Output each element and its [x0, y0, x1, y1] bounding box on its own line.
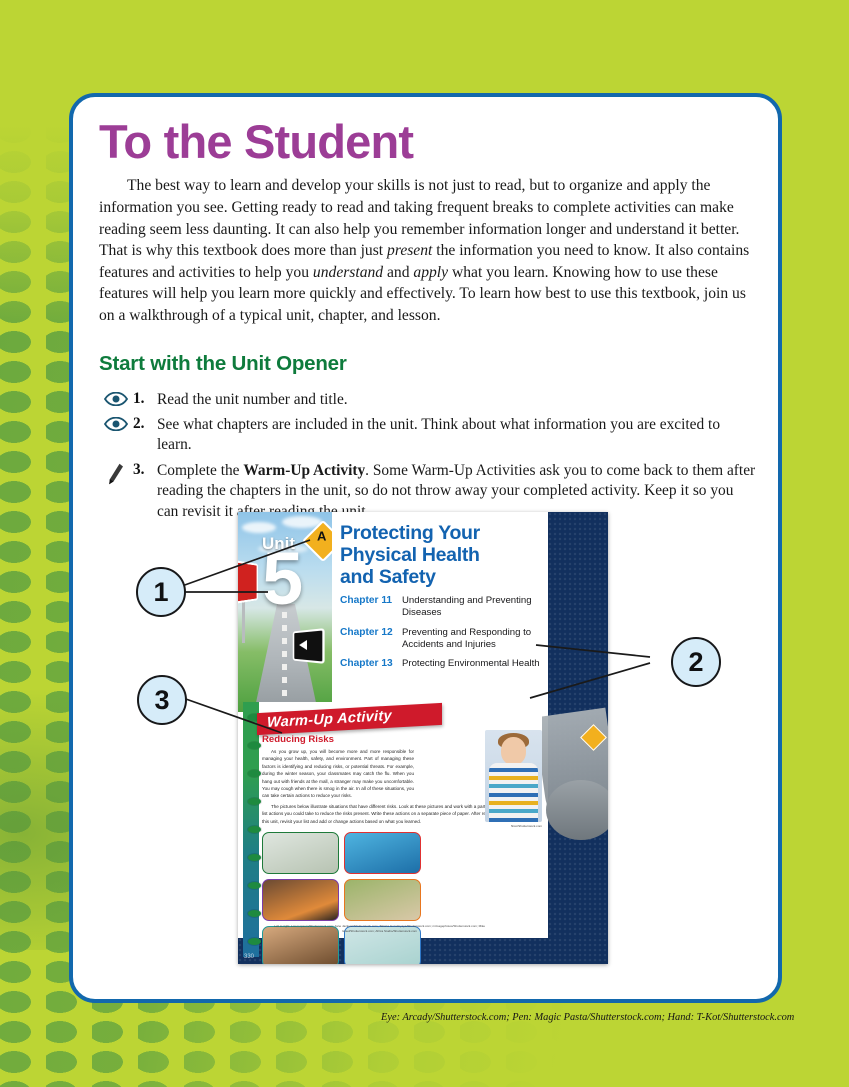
activity-body: Reducing Risks As you grow up, you will … [262, 734, 497, 825]
photo-cell [262, 879, 339, 921]
list-item: 2. See what chapters are included in the… [99, 415, 756, 456]
chapter-row: Chapter 11 Understanding and Preventing … [340, 595, 548, 620]
chapter-number: Chapter 11 [340, 595, 402, 620]
unit-title-line-2: Physical Health [340, 544, 548, 566]
boy-shirt [489, 763, 538, 822]
intro-italic-present: present [387, 242, 432, 259]
chapter-row: Chapter 12 Preventing and Responding to … [340, 627, 548, 652]
activity-heading: Reducing Risks [262, 734, 497, 745]
stop-sign-icon [238, 560, 258, 605]
activity-photo-grid [262, 832, 497, 964]
photo-credit-line: Eye: Arcady/Shutterstock.com; Pen: Magic… [381, 1012, 794, 1023]
pencil-icon [99, 461, 133, 485]
eye-icon [99, 390, 133, 406]
activity-paragraph-1: As you grow up, you will become more and… [262, 748, 414, 800]
step-number: 1. [133, 390, 157, 408]
unit-title-block: Protecting Your Physical Health and Safe… [332, 512, 548, 712]
boy-head [501, 737, 526, 765]
step-text-bold: Warm-Up Activity [243, 462, 365, 479]
intro-text-3: and [383, 264, 413, 281]
step-text: Read the unit number and title. [157, 390, 756, 410]
road-dashes [282, 612, 287, 712]
unit-title-line-3: and Safety [340, 566, 548, 588]
diamond-sign-letter: A [317, 529, 326, 544]
boy-photo [485, 730, 542, 822]
chapter-title: Protecting Environmental Health [402, 658, 540, 670]
step-number: 2. [133, 415, 157, 433]
unit-number-label: 5 [262, 542, 303, 616]
callout-3: 3 [137, 675, 187, 725]
photo-cell [344, 832, 421, 874]
chapter-number: Chapter 12 [340, 627, 402, 652]
card-inner: To the Student The best way to learn and… [99, 117, 756, 527]
intro-paragraph: The best way to learn and develop your s… [99, 175, 756, 326]
right-texture-panel [548, 512, 608, 964]
chapter-title: Understanding and Preventing Diseases [402, 595, 548, 620]
step-number: 3. [133, 461, 157, 479]
activity-paragraph-2: The pictures below illustrate situations… [262, 803, 497, 825]
boy-photo-credit: Nico/Shutterstock.com [485, 824, 542, 828]
chapter-number: Chapter 13 [340, 658, 402, 670]
step-text-pre: Complete the [157, 462, 243, 479]
steps-list: 1. Read the unit number and title. 2. Se… [99, 390, 756, 523]
section-heading: Start with the Unit Opener [99, 352, 756, 376]
unit-title: Protecting Your Physical Health and Safe… [340, 522, 548, 588]
list-item: 1. Read the unit number and title. [99, 390, 756, 410]
photo-cell [344, 879, 421, 921]
callout-1: 1 [136, 567, 186, 617]
eye-icon [99, 415, 133, 431]
chapter-title: Preventing and Responding to Accidents a… [402, 627, 548, 652]
grid-photo-credit: Left to right: Lorem ipsum/Shutterstock.… [262, 924, 497, 933]
unit-opener-preview: Unit 5 A Protecting Your Physical Health… [238, 512, 608, 964]
step-text: See what chapters are included in the un… [157, 415, 756, 456]
arrow-sign-icon [293, 628, 325, 664]
page-title: To the Student [99, 117, 756, 166]
page-number: 330 [244, 954, 254, 960]
spiral-binding [243, 702, 259, 957]
unit-title-line-1: Protecting Your [340, 522, 548, 544]
road-loop [546, 780, 608, 840]
photo-cell [262, 832, 339, 874]
chapter-row: Chapter 13 Protecting Environmental Heal… [340, 658, 548, 670]
intro-italic-understand: understand [313, 264, 383, 281]
callout-2: 2 [671, 637, 721, 687]
intro-italic-apply: apply [413, 264, 448, 281]
